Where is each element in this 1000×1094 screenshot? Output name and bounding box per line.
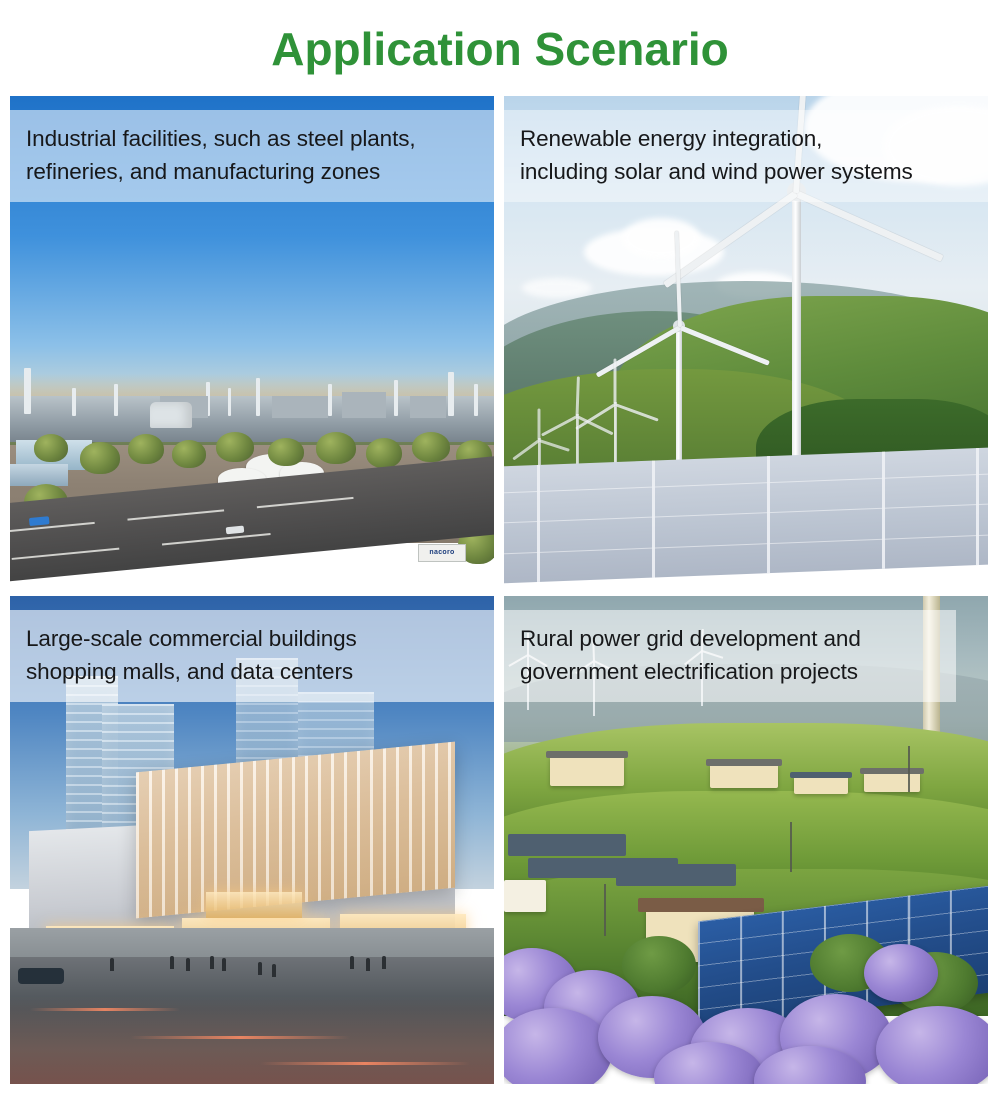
utility-pole (790, 822, 792, 872)
pedestrian (186, 958, 190, 971)
tree (80, 442, 120, 474)
smokestack-icon (72, 388, 76, 416)
caption-line-1: Rural power grid development and (520, 622, 940, 655)
scenario-caption: Renewable energy integration, including … (504, 110, 988, 202)
entry-glass (206, 892, 302, 918)
house-roof (790, 772, 852, 778)
lane-marking (257, 496, 354, 507)
scenario-card-commercial-buildings[interactable]: Large-scale commercial buildings shoppin… (10, 596, 494, 1084)
tree (366, 438, 402, 468)
smokestack-icon (328, 384, 332, 416)
cloud (522, 278, 592, 298)
tree (34, 434, 68, 462)
house-roof (706, 759, 782, 766)
panel-seam (537, 465, 540, 582)
scenario-caption: Large-scale commercial buildings shoppin… (10, 610, 494, 702)
smokestack-icon (228, 388, 231, 416)
turbine-mast (792, 188, 801, 500)
utility-pole (908, 746, 910, 792)
scenario-card-renewable-energy[interactable]: Renewable energy integration, including … (504, 96, 988, 584)
light-streak (130, 1036, 350, 1039)
tree (268, 438, 304, 466)
light-streak (30, 1008, 180, 1011)
tree (216, 432, 254, 462)
panel-seam (882, 452, 885, 569)
cloud (622, 218, 700, 258)
caption-line-1: Industrial facilities, such as steel pla… (26, 122, 478, 155)
shrub (622, 936, 696, 994)
smokestack-icon (114, 384, 118, 416)
caption-line-2: refineries, and manufacturing zones (26, 155, 478, 188)
parked-car (18, 968, 64, 984)
solar-panel-array (504, 447, 988, 584)
pedestrian (382, 956, 386, 969)
pedestrian (350, 956, 354, 969)
smokestack-icon (24, 368, 31, 414)
panel-seam (976, 448, 979, 565)
scenario-caption: Rural power grid development and governm… (504, 610, 956, 702)
jacaranda-tree (864, 944, 938, 1002)
tree (316, 432, 356, 464)
caption-line-2: shopping malls, and data centers (26, 655, 494, 688)
tree (412, 432, 450, 462)
smokestack-icon (474, 384, 478, 416)
smokestack-icon (394, 380, 398, 416)
panel-row-line (504, 473, 988, 494)
panel-row-line (504, 503, 988, 524)
lane-marking (127, 509, 224, 520)
house-roof (546, 751, 628, 758)
process-unit (272, 396, 328, 418)
tree (128, 434, 164, 464)
panel-seam (767, 456, 770, 573)
house-roof (860, 768, 924, 774)
pedestrian (258, 962, 262, 975)
village-house (504, 880, 546, 912)
site-sign: nacoro (418, 544, 466, 562)
light-streak (260, 1062, 470, 1065)
village-house (550, 756, 624, 786)
turbine-blade (538, 409, 541, 441)
scenario-grid: nacoro Industrial facilities, such as st… (10, 96, 988, 1084)
village-house (864, 772, 920, 792)
panel-seam (652, 460, 655, 577)
tree (172, 440, 206, 468)
barn-roof (616, 864, 736, 886)
office-building (10, 464, 68, 486)
village-house (794, 776, 848, 794)
smokestack-icon (448, 372, 454, 416)
moving-car (226, 526, 245, 535)
caption-line-1: Renewable energy integration, (520, 122, 988, 155)
caption-line-2: including solar and wind power systems (520, 155, 988, 188)
moving-car (29, 516, 50, 526)
storage-tank (150, 402, 192, 428)
pedestrian (272, 964, 276, 977)
page-title: Application Scenario (0, 18, 1000, 80)
caption-line-1: Large-scale commercial buildings (26, 622, 494, 655)
scenario-card-rural-power-grid[interactable]: Rural power grid development and governm… (504, 596, 988, 1084)
smokestack-icon (256, 378, 260, 416)
lane-marking (10, 521, 95, 532)
process-unit (342, 392, 386, 418)
pedestrian (366, 958, 370, 971)
process-unit (410, 396, 446, 418)
caption-line-2: government electrification projects (520, 655, 940, 688)
pedestrian (110, 958, 114, 971)
scenario-caption: Industrial facilities, such as steel pla… (10, 110, 494, 202)
pedestrian (222, 958, 226, 971)
pedestrian (210, 956, 214, 969)
lane-marking (11, 547, 119, 559)
pedestrian (170, 956, 174, 969)
utility-pole (604, 884, 606, 936)
scenario-card-industrial-facilities[interactable]: nacoro Industrial facilities, such as st… (10, 96, 494, 584)
village-house (710, 764, 778, 788)
house-roof (638, 898, 764, 912)
jacaranda-tree (876, 1006, 988, 1084)
barn-roof (508, 834, 626, 856)
turbine-blade (614, 359, 617, 405)
lane-marking (162, 533, 270, 545)
panel-row-line (504, 533, 988, 554)
application-scenario-page: Application Scenario (0, 0, 1000, 1094)
